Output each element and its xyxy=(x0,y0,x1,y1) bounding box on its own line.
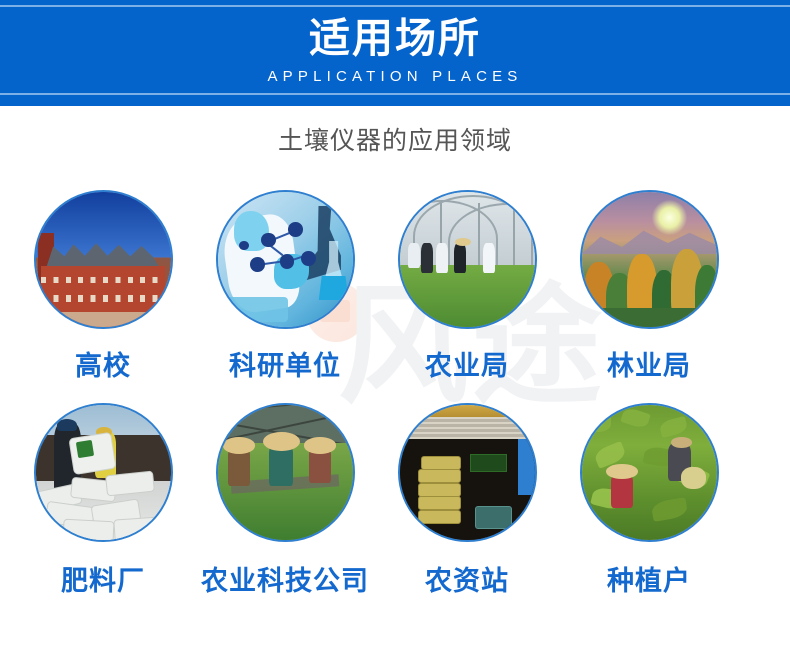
section-subtitle: 土壤仪器的应用领域 xyxy=(0,124,790,158)
application-item-research-institute[interactable]: 科研单位 xyxy=(194,190,376,383)
application-item-agritech-company[interactable]: 农业科技公司 xyxy=(194,403,376,598)
seedbed-workers-photo-icon xyxy=(216,403,355,542)
application-item-label: 肥料厂 xyxy=(61,564,145,598)
application-item-forestry-bureau[interactable]: 林业局 xyxy=(558,190,740,383)
application-item-label: 农业科技公司 xyxy=(201,564,369,598)
autumn-forest-photo-icon xyxy=(580,190,719,329)
application-places-banner: 适用场所 APPLICATION PLACES xyxy=(0,0,790,106)
banner-subtitle-en: APPLICATION PLACES xyxy=(0,67,790,87)
application-item-label: 农资站 xyxy=(425,564,509,598)
banner-title: 适用场所 xyxy=(0,13,790,63)
grid-row-2: 肥料厂 农业科技公司 xyxy=(0,403,790,598)
application-item-agriculture-bureau[interactable]: 农业局 xyxy=(376,190,558,383)
supply-store-photo-icon xyxy=(398,403,537,542)
application-item-label: 高校 xyxy=(75,349,131,383)
application-places-grid: 高校 科研单位 xyxy=(0,190,790,598)
research-lab-photo-icon xyxy=(216,190,355,329)
vegetable-harvest-photo-icon xyxy=(580,403,719,542)
grid-row-1: 高校 科研单位 xyxy=(0,190,790,383)
fertilizer-bags-photo-icon xyxy=(34,403,173,542)
banner-top-rule xyxy=(0,5,790,7)
application-item-agri-supply-station[interactable]: 农资站 xyxy=(376,403,558,598)
banner-bottom-rule xyxy=(0,93,790,95)
application-item-university[interactable]: 高校 xyxy=(12,190,194,383)
university-photo-icon xyxy=(34,190,173,329)
application-item-grower[interactable]: 种植户 xyxy=(558,403,740,598)
application-item-fertilizer-plant[interactable]: 肥料厂 xyxy=(12,403,194,598)
application-item-label: 种植户 xyxy=(607,564,691,598)
application-item-label: 科研单位 xyxy=(229,349,341,383)
application-item-label: 林业局 xyxy=(607,349,691,383)
greenhouse-field-photo-icon xyxy=(398,190,537,329)
application-item-label: 农业局 xyxy=(425,349,509,383)
